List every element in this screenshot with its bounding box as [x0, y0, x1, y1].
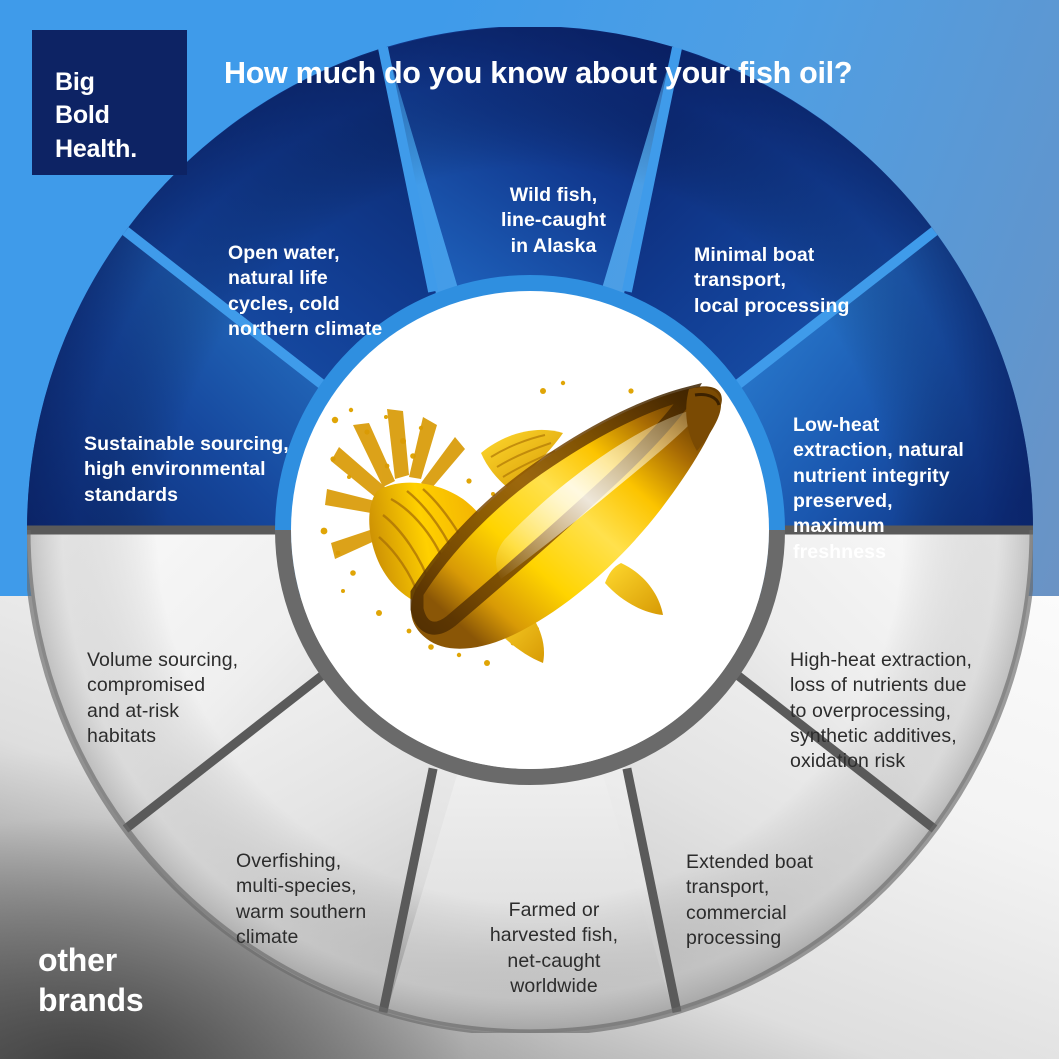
label-low-heat-extraction: Low-heat extraction, natural nutrient in… — [793, 413, 1008, 565]
label-volume-sourcing: Volume sourcing, compromised and at-risk… — [87, 648, 287, 749]
brand-logo[interactable]: Big Bold Health. — [32, 30, 187, 175]
center-hub — [291, 291, 769, 769]
label-farmed-harvested: Farmed or harvested fish, net-caught wor… — [464, 898, 644, 999]
fish-oil-comparison-infographic: Sustainable sourcing, high environmental… — [0, 0, 1059, 1059]
brand-logo-text: Big Bold Health. — [55, 66, 137, 166]
label-high-heat-extraction: High-heat extraction, loss of nutrients … — [790, 648, 1005, 775]
label-sustainable-sourcing: Sustainable sourcing, high environmental… — [84, 432, 319, 508]
fish-oil-splash-illustration — [291, 291, 769, 769]
label-minimal-boat-transport: Minimal boat transport, local processing — [694, 243, 884, 319]
label-wild-fish: Wild fish, line-caught in Alaska — [466, 183, 641, 259]
page-title: How much do you know about your fish oil… — [224, 56, 852, 91]
label-overfishing: Overfishing, multi-species, warm souther… — [236, 849, 426, 950]
oil-fish-pectoral-fin — [605, 563, 663, 615]
label-extended-boat-transport: Extended boat transport, commercial proc… — [686, 850, 876, 951]
other-brands-label: other brands — [38, 941, 144, 1020]
label-open-water: Open water, natural life cycles, cold no… — [228, 241, 428, 342]
